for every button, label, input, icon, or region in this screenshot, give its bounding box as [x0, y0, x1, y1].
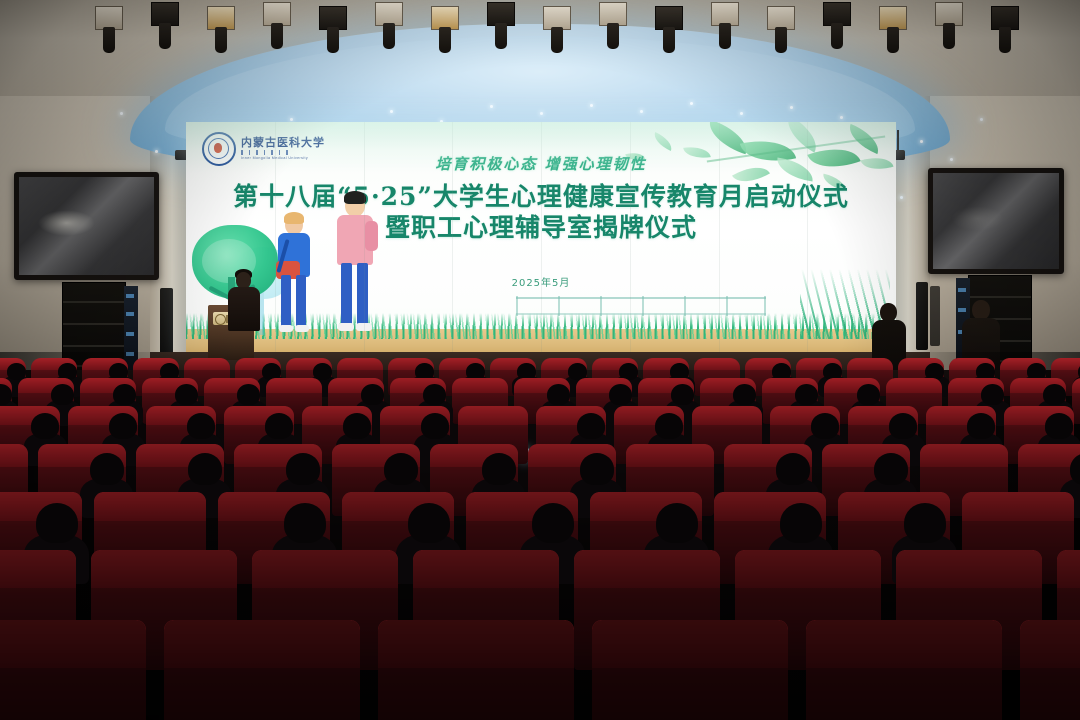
auditorium-photo: 内蒙古医科大学 Inner Mongolia Medical Universit…	[0, 0, 1080, 720]
audience-head-silhouette	[889, 413, 917, 439]
stage-light-yoke	[775, 27, 787, 53]
audience-head-silhouette	[772, 363, 791, 380]
audience-head-silhouette	[286, 453, 320, 485]
audience-head-silhouette	[423, 384, 446, 405]
stage-light	[95, 6, 123, 30]
audience-head-silhouette	[577, 413, 605, 439]
led-stage-screen: 内蒙古医科大学 Inner Mongolia Medical Universit…	[186, 122, 896, 357]
stage-light-yoke	[607, 23, 619, 49]
stage-light-yoke	[887, 27, 899, 53]
audience-head-silhouette	[619, 363, 638, 380]
audience-head-silhouette	[780, 503, 822, 543]
audience-head-silhouette	[31, 413, 59, 439]
ceiling-star-light	[120, 112, 123, 115]
seat-shading	[378, 620, 574, 720]
ceiling-star-light	[840, 116, 843, 119]
led-panel-seam	[275, 122, 276, 357]
illustration-student-pink	[332, 195, 380, 337]
presenter-at-podium	[226, 272, 262, 332]
audience-head-silhouette	[1027, 363, 1046, 380]
audience-head-silhouette	[655, 413, 683, 439]
audience-head-silhouette	[343, 413, 371, 439]
stage-light	[879, 6, 907, 30]
auditorium-seat	[0, 620, 146, 720]
audience-head-silhouette	[36, 503, 78, 543]
audience-head-silhouette	[284, 503, 326, 543]
ceiling-star-light	[640, 110, 643, 113]
audience-head-silhouette	[670, 363, 689, 380]
audience-head-silhouette	[415, 363, 434, 380]
audience-head-silhouette	[823, 363, 842, 380]
audience-head-silhouette	[384, 453, 418, 485]
audience-head-silhouette	[795, 384, 818, 405]
audience-head-silhouette	[187, 413, 215, 439]
audience-head-silhouette	[113, 384, 136, 405]
auditorium-seat	[378, 620, 574, 720]
stage-light-yoke	[943, 23, 955, 49]
ceiling-star-light	[740, 112, 743, 115]
audience-head-silhouette	[109, 413, 137, 439]
ceiling-star-light	[790, 106, 793, 109]
audience-head-silhouette	[408, 503, 450, 543]
illustration-student-blue	[272, 215, 316, 337]
stage-light	[543, 6, 571, 30]
line-array-speaker-right	[916, 282, 928, 350]
audience-head-silhouette	[976, 363, 995, 380]
ceiling-star-light	[690, 102, 693, 105]
audience-head-silhouette	[580, 453, 614, 485]
led-panel-seam	[364, 122, 365, 357]
audience-head-silhouette	[482, 453, 516, 485]
stage-light	[319, 6, 347, 30]
stage-light-yoke	[663, 27, 675, 53]
auditorium-seat	[592, 620, 788, 720]
stage-light	[823, 2, 851, 26]
audience-head-silhouette	[466, 363, 485, 380]
stage-light-yoke	[271, 23, 283, 49]
stage-light-yoke	[159, 23, 171, 49]
audience-head-silhouette	[58, 363, 77, 380]
audience-head-silhouette	[313, 363, 332, 380]
audience-head-silhouette	[160, 363, 179, 380]
display-glare-right	[951, 206, 1004, 231]
audience-head-silhouette	[237, 384, 260, 405]
audience-head-silhouette	[421, 413, 449, 439]
stage-light-yoke	[551, 27, 563, 53]
stage-light	[935, 2, 963, 26]
audience-head-silhouette	[90, 453, 124, 485]
audience-head-silhouette	[51, 384, 74, 405]
line-array-speaker-right-2	[930, 286, 940, 346]
display-glare-left	[38, 210, 95, 235]
audience-head-silhouette	[811, 413, 839, 439]
audience-head-silhouette	[1045, 413, 1073, 439]
audience-head-silhouette	[547, 384, 570, 405]
audience-seating	[0, 352, 1080, 720]
audience-head-silhouette	[175, 384, 198, 405]
stage-light	[767, 6, 795, 30]
audience-head-silhouette	[532, 503, 574, 543]
logo-chinese-name: 内蒙古医科大学	[241, 137, 325, 148]
led-panel-seam	[630, 122, 631, 357]
led-panel-seam	[807, 122, 808, 357]
seat-shading	[0, 620, 146, 720]
stage-light-yoke	[495, 23, 507, 49]
stage-light	[991, 6, 1019, 30]
audience-head-silhouette	[517, 363, 536, 380]
seat-shading	[164, 620, 360, 720]
led-panel-seam	[541, 122, 542, 357]
audience-head-silhouette	[874, 453, 908, 485]
audience-head-silhouette	[7, 363, 26, 380]
audience-head-silhouette	[733, 384, 756, 405]
led-panel-seam	[719, 122, 720, 357]
ceiling-star-light	[950, 158, 953, 161]
audience-head-silhouette	[981, 384, 1004, 405]
auditorium-seat	[1020, 620, 1080, 720]
audience-head-silhouette	[568, 363, 587, 380]
audience-head-silhouette	[188, 453, 222, 485]
audience-head-silhouette	[967, 413, 995, 439]
ceiling-star-light	[900, 196, 903, 199]
audience-head-silhouette	[904, 503, 946, 543]
audience-head-silhouette	[262, 363, 281, 380]
audience-head-silhouette	[1043, 384, 1066, 405]
stage-light	[263, 2, 291, 26]
stage-light	[151, 2, 179, 26]
stage-light-yoke	[103, 27, 115, 53]
ceiling-star-light	[490, 105, 493, 108]
stage-light	[375, 2, 403, 26]
seat-shading	[1020, 620, 1080, 720]
seat-shading	[806, 620, 1002, 720]
audience-head-silhouette	[109, 363, 128, 380]
audience-head-silhouette	[671, 384, 694, 405]
audience-head-silhouette	[265, 413, 293, 439]
leaf-icon	[651, 132, 676, 151]
stage-light	[207, 6, 235, 30]
ceiling-star-light	[155, 150, 158, 153]
audience-head-silhouette	[857, 384, 880, 405]
ceiling-star-light	[980, 118, 983, 121]
ceiling-star-light	[920, 140, 923, 143]
wall-display-left[interactable]	[14, 172, 159, 280]
ceiling-star-light	[590, 104, 593, 107]
stage-light	[711, 2, 739, 26]
stage-light	[655, 6, 683, 30]
wall-display-right[interactable]	[928, 168, 1064, 274]
audience-head-silhouette	[925, 363, 944, 380]
illustration-fence	[516, 297, 766, 315]
audience-head-silhouette	[361, 384, 384, 405]
truss-hanger	[897, 130, 899, 150]
audience-head-silhouette	[609, 384, 632, 405]
stage-light-yoke	[831, 23, 843, 49]
stage-light-yoke	[383, 23, 395, 49]
led-panel-seam	[452, 122, 453, 357]
line-array-speaker-left	[160, 288, 173, 360]
seat-shading	[592, 620, 788, 720]
stage-light-yoke	[439, 27, 451, 53]
stage-light	[431, 6, 459, 30]
audience-head-silhouette	[656, 503, 698, 543]
auditorium-seat	[806, 620, 1002, 720]
stage-light-yoke	[719, 23, 731, 49]
ceiling-star-light	[290, 118, 293, 121]
stage-light	[599, 2, 627, 26]
audience-head-silhouette	[776, 453, 810, 485]
auditorium-seat	[164, 620, 360, 720]
lectern-seal-icon	[215, 314, 226, 325]
seat-row	[0, 620, 1080, 720]
ceiling-star-light	[390, 110, 393, 113]
ceiling-star-light	[540, 112, 543, 115]
stage-light-yoke	[999, 27, 1011, 53]
stage-light	[487, 2, 515, 26]
stage-light-yoke	[327, 27, 339, 53]
stage-light-yoke	[215, 27, 227, 53]
